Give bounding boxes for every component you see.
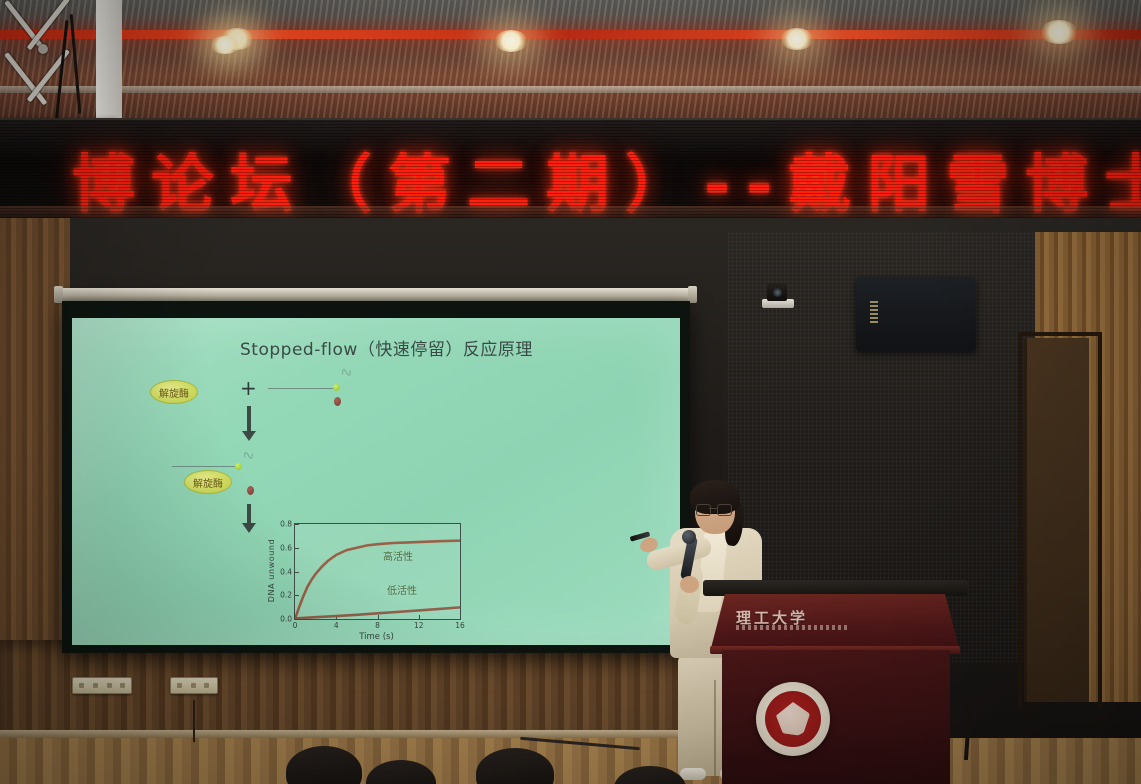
microphone-head (682, 530, 696, 544)
y-tick-label: 0.6 (280, 543, 292, 552)
ceiling-red-light-strip (0, 30, 1141, 39)
ceiling-downlight (494, 30, 528, 52)
ceiling-downlight (210, 36, 240, 54)
presenter-shoe (680, 768, 706, 780)
dna-red-marker (247, 486, 254, 495)
power-outlet-plate[interactable] (72, 677, 132, 694)
curve-label-low-activity: 低活性 (387, 582, 417, 597)
floor (0, 738, 1141, 784)
dna-green-marker (333, 384, 340, 391)
y-tick-label: 0.0 (280, 615, 292, 624)
wall-speaker (856, 277, 976, 351)
ceiling-downlight (1040, 20, 1078, 44)
projector-scissor-lift (8, 0, 98, 120)
chart-x-axis-label: Time (s) (294, 632, 459, 642)
university-emblem (756, 682, 830, 756)
switch-plate[interactable] (170, 677, 218, 694)
presenter-hand-mic (680, 576, 699, 593)
wall-cable (193, 700, 195, 742)
enzyme-label-ellipse: 解旋酶 (150, 380, 198, 404)
chart-plot-area: 0.8 0.6 0.4 0.2 0.0 0 4 8 12 16 高活性 低活性 (294, 523, 461, 620)
ceiling (0, 0, 1141, 122)
ceiling-trim-edge (0, 86, 1141, 93)
enzyme-label-text: 解旋酶 (193, 475, 223, 490)
speaker-brand-logo (870, 299, 878, 323)
dna-strand (172, 466, 238, 467)
enzyme-label-ellipse: 解旋酶 (184, 470, 232, 494)
curve-label-high-activity: 高活性 (383, 548, 413, 563)
projection-screen-frame: Stopped-flow（快速停留）反应原理 解旋酶 + ∿ 解旋酶 ∿ DNA… (62, 301, 690, 653)
chart-y-axis-label: DNA unwound (267, 523, 281, 618)
podium-top-surface (703, 580, 968, 596)
dna-green-marker (235, 463, 242, 470)
dna-squiggle-icon: ∿ (240, 444, 258, 465)
led-banner-text: 博论坛（第二期）--戴阳雪博士 (72, 134, 1141, 225)
presenter-glasses (696, 504, 730, 515)
reaction-arrow-1 (247, 406, 251, 432)
enzyme-label-text: 解旋酶 (159, 385, 189, 400)
dna-squiggle-icon: ∿ (338, 361, 356, 382)
projected-slide: Stopped-flow（快速停留）反应原理 解旋酶 + ∿ 解旋酶 ∿ DNA… (72, 318, 680, 645)
x-tick-label: 12 (414, 621, 424, 630)
trouser-seam (714, 680, 716, 776)
ceiling-ribs (0, 0, 1141, 122)
y-tick-label: 0.4 (280, 567, 292, 576)
ceiling-downlight (780, 28, 814, 50)
x-tick-label: 16 (455, 621, 465, 630)
y-tick-label: 0.2 (280, 591, 292, 600)
plus-symbol: + (240, 376, 257, 400)
dna-red-marker (334, 397, 341, 406)
screen-roller-housing (60, 288, 692, 301)
x-tick-label: 4 (334, 621, 339, 630)
chart-curves (295, 524, 460, 619)
y-tick-label: 0.8 (280, 520, 292, 529)
slide-title: Stopped-flow（快速停留）反应原理 (240, 335, 533, 360)
camera-lens (773, 288, 782, 297)
lecture-hall-photo: 博论坛（第二期）--戴阳雪博士 Stopped-flow（快速停留）反应原理 (0, 0, 1141, 784)
podium-english-subtitle (736, 625, 848, 630)
projector-mount-post (96, 0, 122, 118)
dna-strand (268, 388, 336, 389)
reaction-arrow-2 (247, 504, 251, 524)
led-banner: 博论坛（第二期）--戴阳雪博士 (0, 118, 1141, 227)
door[interactable] (1024, 338, 1089, 702)
x-tick-label: 8 (375, 621, 380, 630)
x-tick-label: 0 (293, 621, 298, 630)
ptz-camera-icon (762, 283, 794, 309)
